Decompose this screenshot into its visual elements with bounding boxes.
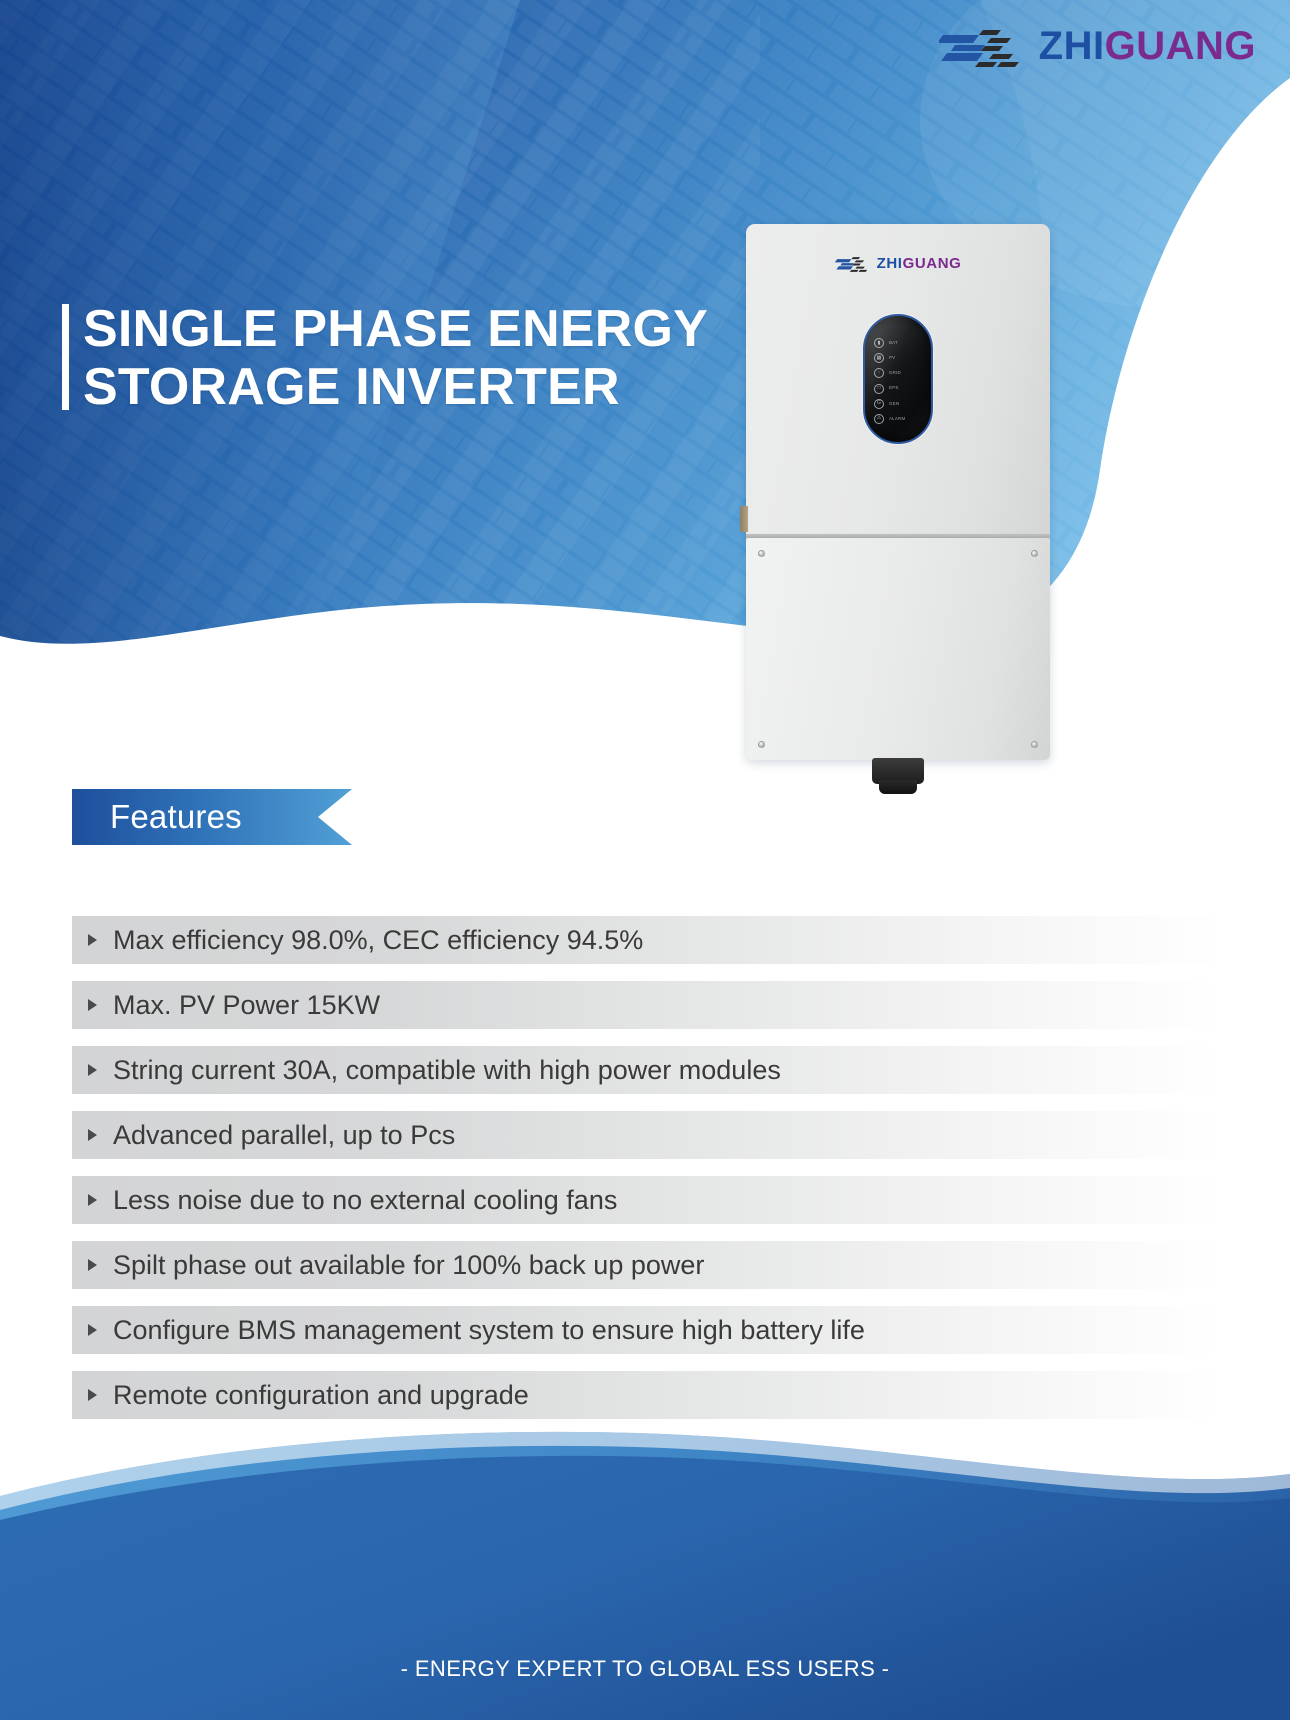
product-logo-zhi: ZHI: [877, 255, 903, 272]
company-logo: ZHIGUANG: [939, 22, 1256, 70]
led-indicator-row: □ EPS: [874, 384, 925, 394]
led-indicator-row: G GEN: [874, 399, 925, 409]
footer-section: - ENERGY EXPERT TO GLOBAL ESS USERS -: [0, 1400, 1290, 1720]
product-brand-logo: ZHIGUANG: [835, 254, 962, 273]
battery-icon: ▮: [874, 338, 884, 348]
footer-tagline: - ENERGY EXPERT TO GLOBAL ESS USERS -: [0, 1656, 1290, 1682]
datasheet-page: ZHIGUANG SINGLE PHASE ENERGY STORAGE INV…: [0, 0, 1290, 1720]
led-indicator-row: ▮ BAT: [874, 338, 925, 348]
features-banner-label: Features: [110, 789, 242, 845]
led-indicator-row: ↑ GRID: [874, 368, 925, 378]
led-label-eps: EPS: [889, 386, 899, 390]
inverter-lower-housing: [746, 538, 1050, 760]
feature-item: Max efficiency 98.0%, CEC efficiency 94.…: [72, 916, 1222, 964]
company-logo-text: ZHIGUANG: [1039, 26, 1256, 66]
triangle-bullet-icon: [88, 1194, 97, 1206]
feature-item: Max. PV Power 15KW: [72, 981, 1222, 1029]
triangle-bullet-icon: [88, 934, 97, 946]
product-logo-guang: GUANG: [903, 255, 962, 272]
solar-panel-icon: ▦: [874, 353, 884, 363]
logo-text-guang: GUANG: [1105, 24, 1256, 68]
eps-outlet-icon: □: [874, 384, 884, 394]
housing-screw: [758, 741, 765, 748]
housing-screw: [1031, 550, 1038, 557]
led-label-bat: BAT: [889, 341, 898, 345]
inverter-display-panel: ▮ BAT ▦ PV ↑ GRID □ EPS: [863, 314, 933, 444]
feature-item: Advanced parallel, up to Pcs: [72, 1111, 1222, 1159]
housing-screw: [1031, 741, 1038, 748]
led-label-pv: PV: [889, 356, 895, 360]
triangle-bullet-icon: [88, 1129, 97, 1141]
feature-text: Max. PV Power 15KW: [113, 992, 380, 1019]
led-indicator-row: ▦ PV: [874, 353, 925, 363]
led-label-grid: GRID: [889, 371, 901, 375]
features-list: Max efficiency 98.0%, CEC efficiency 94.…: [72, 916, 1222, 1436]
features-banner: Features: [72, 789, 352, 845]
grid-tower-icon: ↑: [874, 368, 884, 378]
led-indicator-row: ⚠ ALARM: [874, 414, 925, 424]
feature-item: Less noise due to no external cooling fa…: [72, 1176, 1222, 1224]
feature-text: Configure BMS management system to ensur…: [113, 1317, 865, 1344]
page-title: SINGLE PHASE ENERGY STORAGE INVERTER: [62, 300, 708, 416]
product-zhiguang-stripes-logo-icon: [835, 254, 871, 273]
triangle-bullet-icon: [88, 999, 97, 1011]
feature-text: String current 30A, compatible with high…: [113, 1057, 781, 1084]
led-indicator-list: ▮ BAT ▦ PV ↑ GRID □ EPS: [874, 338, 925, 424]
feature-item: Spilt phase out available for 100% back …: [72, 1241, 1222, 1289]
inverter-upper-housing: ZHIGUANG ▮ BAT ▦ PV ↑ GRID: [746, 224, 1050, 536]
title-accent-bar: [62, 304, 69, 410]
housing-screw: [758, 550, 765, 557]
triangle-bullet-icon: [88, 1389, 97, 1401]
logo-text-zhi: ZHI: [1039, 24, 1105, 68]
alarm-warning-icon: ⚠: [874, 414, 884, 424]
side-connector-tab: [740, 506, 748, 532]
led-label-gen: GEN: [889, 402, 899, 406]
generator-icon: G: [874, 399, 884, 409]
cable-conduit-cap: [879, 780, 917, 794]
feature-text: Spilt phase out available for 100% back …: [113, 1252, 704, 1279]
feature-text: Less noise due to no external cooling fa…: [113, 1187, 617, 1214]
product-brand-text: ZHIGUANG: [877, 256, 962, 271]
title-line-2: STORAGE INVERTER: [83, 358, 708, 416]
zhiguang-stripes-logo-icon: [939, 22, 1025, 70]
feature-text: Max efficiency 98.0%, CEC efficiency 94.…: [113, 927, 643, 954]
product-image: ZHIGUANG ▮ BAT ▦ PV ↑ GRID: [746, 224, 1050, 769]
feature-text: Remote configuration and upgrade: [113, 1382, 529, 1409]
title-line-1: SINGLE PHASE ENERGY: [83, 300, 708, 358]
triangle-bullet-icon: [88, 1064, 97, 1076]
triangle-bullet-icon: [88, 1259, 97, 1271]
feature-item: Configure BMS management system to ensur…: [72, 1306, 1222, 1354]
triangle-bullet-icon: [88, 1324, 97, 1336]
led-label-alarm: ALARM: [889, 417, 905, 421]
feature-text: Advanced parallel, up to Pcs: [113, 1122, 455, 1149]
feature-item: Remote configuration and upgrade: [72, 1371, 1222, 1419]
feature-item: String current 30A, compatible with high…: [72, 1046, 1222, 1094]
hero-section: ZHIGUANG SINGLE PHASE ENERGY STORAGE INV…: [0, 0, 1290, 700]
